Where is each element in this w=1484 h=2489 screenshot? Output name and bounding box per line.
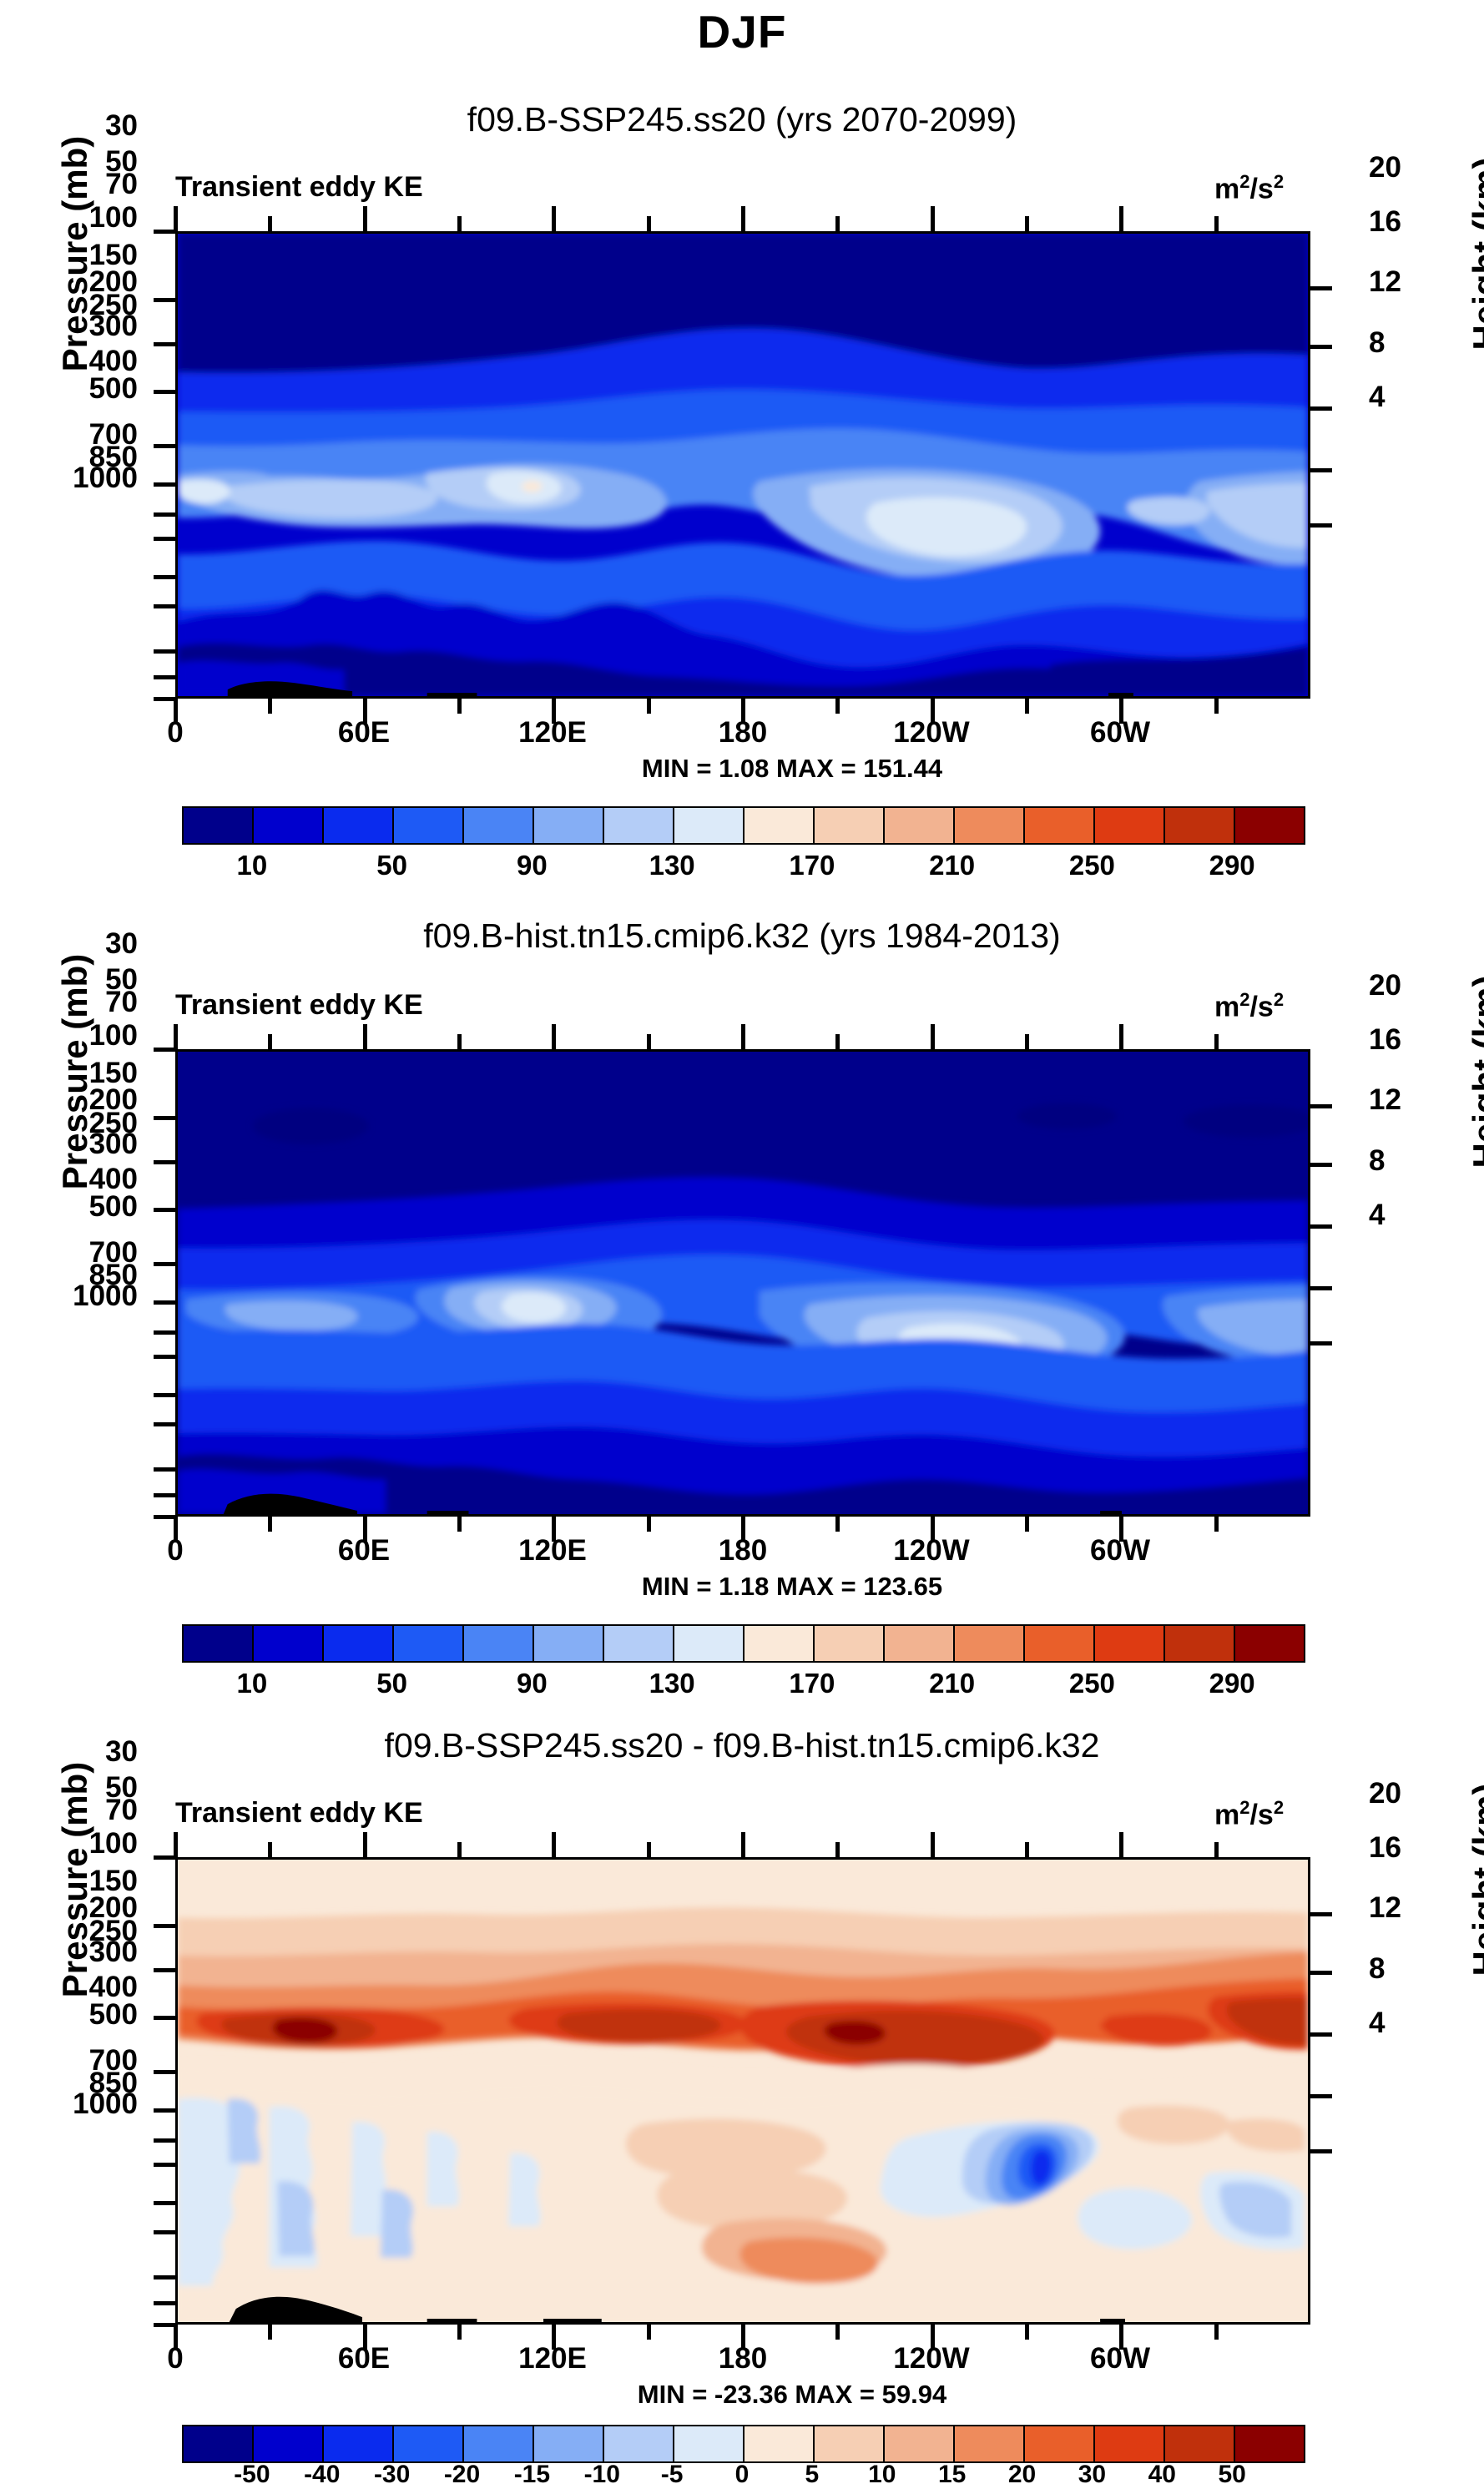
ytick-label: 300 [33, 1129, 138, 1159]
colorbar-cell [815, 2426, 885, 2461]
colorbar-cell [534, 808, 604, 843]
tick-mark [1310, 1163, 1332, 1167]
tick-mark [154, 2070, 175, 2074]
units-denom-exp: 2 [1274, 171, 1284, 192]
y2tick-label: 16 [1369, 1025, 1401, 1054]
colorbar-tick-label: -15 [514, 2461, 550, 2489]
tick-mark [154, 230, 175, 234]
panel-top-colorbar-labels: 105090130170210250290 [182, 850, 1302, 883]
colorbar-tick-label: 0 [735, 2461, 750, 2489]
ytick-label: 100 [33, 203, 138, 232]
tick-mark [1310, 468, 1332, 472]
tick-mark [457, 1034, 462, 1049]
tick-mark [154, 2323, 175, 2327]
y2tick-label: 20 [1369, 153, 1401, 182]
colorbar-cell [1235, 808, 1304, 843]
colorbar-tick-label: 50 [376, 850, 407, 881]
colorbar-cell [394, 1626, 464, 1661]
tick-mark [647, 2325, 651, 2340]
units-num-exp: 2 [1239, 1797, 1249, 1818]
colorbar-cell [1165, 808, 1235, 843]
ytick-label: 400 [33, 1164, 138, 1194]
tick-mark [268, 2325, 272, 2340]
colorbar-cell [1095, 1626, 1165, 1661]
tick-mark [741, 206, 745, 231]
colorbar-tick-label: 50 [1218, 2461, 1245, 2489]
panel-middle-y2axis-name: Height (km) [1466, 905, 1484, 1239]
tick-mark [154, 1116, 175, 1120]
colorbar-tick-label: 90 [517, 1668, 548, 1699]
ytick-label: 70 [33, 169, 138, 199]
tick-mark [154, 1467, 175, 1472]
tick-mark [154, 1924, 175, 1928]
tick-mark [154, 1855, 175, 1860]
panel-top-contour-field [178, 234, 1308, 696]
colorbar-cell [464, 808, 534, 843]
tick-mark [457, 216, 462, 231]
panel-middle-contour-field [178, 1052, 1308, 1514]
colorbar-cell [885, 2426, 955, 2461]
tick-mark [174, 2325, 178, 2350]
tick-mark [154, 649, 175, 654]
tick-mark [268, 216, 272, 231]
y2tick-label: 20 [1369, 1779, 1401, 1808]
colorbar-tick-label: 40 [1148, 2461, 1176, 2489]
tick-mark [647, 1034, 651, 1049]
units-denom: /s [1249, 173, 1273, 204]
tick-mark [835, 216, 840, 231]
colorbar-cell [324, 808, 394, 843]
tick-mark [154, 1493, 175, 1497]
tick-mark [363, 699, 367, 724]
tick-mark [268, 1034, 272, 1049]
ytick-label: 500 [33, 2000, 138, 2029]
tick-mark [154, 390, 175, 394]
tick-mark [154, 675, 175, 679]
ytick-label: 30 [33, 111, 138, 140]
tick-mark [154, 537, 175, 541]
tick-mark [154, 1300, 175, 1305]
colorbar-cell [1095, 808, 1165, 843]
tick-mark [154, 1262, 175, 1266]
colorbar-cell [674, 2426, 745, 2461]
y2tick-label: 12 [1369, 1085, 1401, 1114]
panel-top-y2axis-name: Height (km) [1466, 87, 1484, 421]
ytick-label: 70 [33, 1795, 138, 1825]
tick-mark [363, 1024, 367, 1049]
tick-mark [154, 2163, 175, 2167]
colorbar-cell [604, 1626, 674, 1661]
tick-mark [154, 2108, 175, 2113]
y2tick-label: 12 [1369, 1893, 1401, 1922]
panel-bottom-units-label: m2/s2 [1214, 1797, 1284, 1831]
tick-mark [174, 1024, 178, 1049]
tick-mark [647, 1517, 651, 1532]
ytick-label: 1000 [17, 2089, 138, 2118]
y2tick-label: 4 [1369, 2008, 1385, 2037]
colorbar-tick-label: 170 [789, 850, 835, 881]
tick-mark [174, 1517, 178, 1542]
colorbar-cell [745, 2426, 815, 2461]
colorbar-cell [324, 1626, 394, 1661]
tick-mark [1310, 523, 1332, 528]
tick-mark [1310, 345, 1332, 349]
tick-mark [174, 1832, 178, 1857]
panel-middle-colorbar-labels: 105090130170210250290 [182, 1668, 1302, 1701]
colorbar-tick-label: 290 [1209, 1668, 1255, 1699]
tick-mark [457, 1842, 462, 1857]
colorbar-tick-label: -10 [584, 2461, 620, 2489]
panel-middle-units-label: m2/s2 [1214, 989, 1284, 1023]
tick-mark [154, 1355, 175, 1359]
tick-mark [1025, 1842, 1029, 1857]
ytick-label: 100 [33, 1829, 138, 1858]
tick-mark [552, 699, 556, 724]
tick-mark [1214, 1517, 1219, 1532]
tick-mark [931, 206, 935, 231]
tick-mark [552, 1517, 556, 1542]
y2tick-label: 20 [1369, 971, 1401, 1000]
colorbar-tick-label: -5 [661, 2461, 684, 2489]
tick-mark [741, 2325, 745, 2350]
tick-mark [154, 2275, 175, 2279]
tick-mark [154, 298, 175, 302]
tick-mark [647, 216, 651, 231]
tick-mark [154, 2138, 175, 2143]
tick-mark [1025, 216, 1029, 231]
colorbar-tick-label: 210 [929, 850, 975, 881]
colorbar-cell [674, 808, 745, 843]
colorbar-cell [254, 2426, 324, 2461]
colorbar-tick-label: -40 [304, 2461, 340, 2489]
tick-mark [457, 699, 462, 714]
tick-mark [1214, 216, 1219, 231]
ytick-label: 70 [33, 987, 138, 1017]
colorbar-tick-label: 290 [1209, 850, 1255, 881]
colorbar-tick-label: 210 [929, 1668, 975, 1699]
tick-mark [1214, 699, 1219, 714]
tick-mark [268, 1517, 272, 1532]
tick-mark [1119, 206, 1123, 231]
tick-mark [154, 1422, 175, 1426]
panel-bottom-colorbar-labels: -50-40-30-20-15-10-505101520304050 [182, 2461, 1302, 2486]
colorbar-cell [604, 2426, 674, 2461]
tick-mark [154, 2301, 175, 2305]
tick-mark [1214, 1842, 1219, 1857]
ytick-label: 1000 [17, 463, 138, 492]
panel-bottom-contour-field [178, 1860, 1308, 2322]
tick-mark [1310, 1912, 1332, 1916]
ytick-label: 400 [33, 346, 138, 376]
colorbar-tick-label: 5 [805, 2461, 820, 2489]
tick-mark [1025, 1517, 1029, 1532]
ytick-label: 500 [33, 1192, 138, 1221]
y2tick-label: 4 [1369, 382, 1385, 411]
tick-mark [552, 206, 556, 231]
colorbar-cell [534, 2426, 604, 2461]
tick-mark [1119, 1024, 1123, 1049]
tick-mark [154, 1048, 175, 1052]
tick-mark [552, 1024, 556, 1049]
units-base: m [1214, 1799, 1239, 1830]
tick-mark [457, 1517, 462, 1532]
colorbar-tick-label: -50 [234, 2461, 270, 2489]
y2tick-label: 16 [1369, 207, 1401, 236]
tick-mark [1310, 1104, 1332, 1108]
colorbar-tick-label: 130 [649, 1668, 695, 1699]
colorbar-cell [815, 808, 885, 843]
panel-bottom-variable-label: Transient eddy KE [175, 1797, 423, 1830]
tick-mark [154, 342, 175, 346]
tick-mark [1119, 2325, 1123, 2350]
colorbar-tick-label: -20 [444, 2461, 480, 2489]
tick-mark [268, 1842, 272, 1857]
y2tick-label: 16 [1369, 1833, 1401, 1862]
tick-mark [741, 699, 745, 724]
colorbar-cell [885, 808, 955, 843]
tick-mark [1310, 1971, 1332, 1975]
colorbar-cell [254, 808, 324, 843]
colorbar-cell [464, 1626, 534, 1661]
tick-mark [647, 1842, 651, 1857]
y2tick-label: 4 [1369, 1200, 1385, 1229]
colorbar-tick-label: 50 [376, 1668, 407, 1699]
panel-top-minmax: MIN = 1.08 MAX = 151.44 [50, 754, 1484, 784]
tick-mark [835, 1842, 840, 1857]
colorbar-cell [745, 1626, 815, 1661]
units-base: m [1214, 991, 1239, 1022]
panel-middle-plot [175, 1049, 1310, 1517]
tick-mark [1310, 286, 1332, 290]
tick-mark [457, 2325, 462, 2340]
ytick-label: 30 [33, 1737, 138, 1766]
tick-mark [647, 699, 651, 714]
panel-top-units-label: m2/s2 [1214, 171, 1284, 205]
tick-mark [154, 1330, 175, 1335]
panel-middle-variable-label: Transient eddy KE [175, 989, 423, 1022]
colorbar-cell [1025, 2426, 1095, 2461]
colorbar-tick-label: -30 [374, 2461, 410, 2489]
tick-mark [154, 512, 175, 517]
tick-mark [1025, 2325, 1029, 2340]
ytick-label: 30 [33, 929, 138, 958]
tick-mark [835, 1034, 840, 1049]
tick-mark [552, 2325, 556, 2350]
tick-mark [154, 482, 175, 487]
tick-mark [1214, 1034, 1219, 1049]
panel-top-colorbar [182, 806, 1305, 845]
tick-mark [931, 2325, 935, 2350]
panel-top-title: f09.B-SSP245.ss20 (yrs 2070-2099) [0, 100, 1484, 139]
colorbar-cell [464, 2426, 534, 2461]
tick-mark [552, 1832, 556, 1857]
colorbar-cell [324, 2426, 394, 2461]
tick-mark [268, 699, 272, 714]
tick-mark [1310, 1286, 1332, 1290]
ytick-label: 100 [33, 1021, 138, 1050]
colorbar-cell [254, 1626, 324, 1661]
tick-mark [154, 1393, 175, 1397]
colorbar-cell [534, 1626, 604, 1661]
units-num-exp: 2 [1239, 171, 1249, 192]
colorbar-tick-label: 10 [237, 1668, 268, 1699]
colorbar-cell [1025, 1626, 1095, 1661]
tick-mark [1310, 2149, 1332, 2153]
colorbar-cell [1095, 2426, 1165, 2461]
tick-mark [154, 2230, 175, 2234]
colorbar-cell [1235, 2426, 1304, 2461]
tick-mark [1119, 1517, 1123, 1542]
figure-title: DJF [0, 5, 1484, 58]
tick-mark [154, 604, 175, 608]
colorbar-cell [955, 1626, 1025, 1661]
colorbar-cell [674, 1626, 745, 1661]
panel-top-plot [175, 231, 1310, 699]
tick-mark [154, 2016, 175, 2020]
panel-middle-minmax: MIN = 1.18 MAX = 123.65 [50, 1572, 1484, 1602]
tick-mark [174, 206, 178, 231]
tick-mark [1025, 699, 1029, 714]
ytick-label: 300 [33, 311, 138, 341]
tick-mark [154, 1208, 175, 1212]
tick-mark [154, 1515, 175, 1519]
tick-mark [1025, 1034, 1029, 1049]
colorbar-tick-label: 30 [1078, 2461, 1106, 2489]
tick-mark [1310, 1341, 1332, 1345]
colorbar-tick-label: 10 [868, 2461, 896, 2489]
tick-mark [363, 206, 367, 231]
units-denom-exp: 2 [1274, 1797, 1284, 1818]
tick-mark [1119, 1832, 1123, 1857]
tick-mark [1214, 2325, 1219, 2340]
units-num-exp: 2 [1239, 989, 1249, 1010]
tick-mark [1310, 2094, 1332, 2098]
colorbar-tick-label: 20 [1008, 2461, 1036, 2489]
units-denom: /s [1249, 1799, 1273, 1830]
tick-mark [154, 444, 175, 448]
tick-mark [931, 699, 935, 724]
tick-mark [174, 699, 178, 724]
tick-mark [154, 1968, 175, 1972]
panel-bottom-title: f09.B-SSP245.ss20 - f09.B-hist.tn15.cmip… [0, 1726, 1484, 1765]
tick-mark [1310, 2032, 1332, 2037]
colorbar-tick-label: 10 [237, 850, 268, 881]
tick-mark [931, 1517, 935, 1542]
colorbar-tick-label: 90 [517, 850, 548, 881]
tick-mark [363, 1517, 367, 1542]
tick-mark [835, 1517, 840, 1532]
tick-mark [931, 1024, 935, 1049]
colorbar-cell [1235, 1626, 1304, 1661]
colorbar-cell [394, 808, 464, 843]
colorbar-cell [745, 808, 815, 843]
y2tick-label: 8 [1369, 328, 1385, 357]
colorbar-cell [184, 2426, 254, 2461]
y2tick-label: 8 [1369, 1146, 1385, 1175]
colorbar-cell [955, 808, 1025, 843]
tick-mark [1310, 406, 1332, 411]
tick-mark [154, 1160, 175, 1164]
colorbar-tick-label: 250 [1069, 1668, 1115, 1699]
colorbar-cell [394, 2426, 464, 2461]
y2tick-label: 8 [1369, 1954, 1385, 1983]
units-base: m [1214, 173, 1239, 204]
tick-mark [363, 1832, 367, 1857]
panel-bottom-y2axis-name: Height (km) [1466, 1713, 1484, 2047]
panel-top-variable-label: Transient eddy KE [175, 171, 423, 204]
tick-mark [154, 2201, 175, 2205]
colorbar-cell [1025, 808, 1095, 843]
colorbar-cell [885, 1626, 955, 1661]
panel-bottom-colorbar [182, 2425, 1305, 2463]
colorbar-tick-label: 170 [789, 1668, 835, 1699]
colorbar-tick-label: 130 [649, 850, 695, 881]
ytick-label: 300 [33, 1937, 138, 1966]
panel-middle-title: f09.B-hist.tn15.cmip6.k32 (yrs 1984-2013… [0, 916, 1484, 956]
y2tick-label: 12 [1369, 267, 1401, 296]
units-denom-exp: 2 [1274, 989, 1284, 1010]
colorbar-tick-label: 15 [938, 2461, 966, 2489]
colorbar-cell [1165, 1626, 1235, 1661]
ytick-label: 400 [33, 1972, 138, 2002]
colorbar-cell [184, 1626, 254, 1661]
colorbar-cell [184, 808, 254, 843]
units-denom: /s [1249, 991, 1273, 1022]
tick-mark [154, 575, 175, 579]
colorbar-cell [604, 808, 674, 843]
tick-mark [741, 1024, 745, 1049]
tick-mark [154, 697, 175, 701]
colorbar-cell [815, 1626, 885, 1661]
colorbar-cell [955, 2426, 1025, 2461]
ytick-label: 1000 [17, 1281, 138, 1310]
colorbar-cell [1165, 2426, 1235, 2461]
tick-mark [741, 1517, 745, 1542]
tick-mark [835, 699, 840, 714]
tick-mark [741, 1832, 745, 1857]
tick-mark [363, 2325, 367, 2350]
panel-bottom-minmax: MIN = -23.36 MAX = 59.94 [50, 2380, 1484, 2410]
panel-middle-colorbar [182, 1624, 1305, 1663]
tick-mark [835, 2325, 840, 2340]
tick-mark [1310, 1224, 1332, 1229]
ytick-label: 500 [33, 374, 138, 403]
tick-mark [931, 1832, 935, 1857]
colorbar-tick-label: 250 [1069, 850, 1115, 881]
panel-bottom-plot [175, 1857, 1310, 2325]
tick-mark [1119, 699, 1123, 724]
